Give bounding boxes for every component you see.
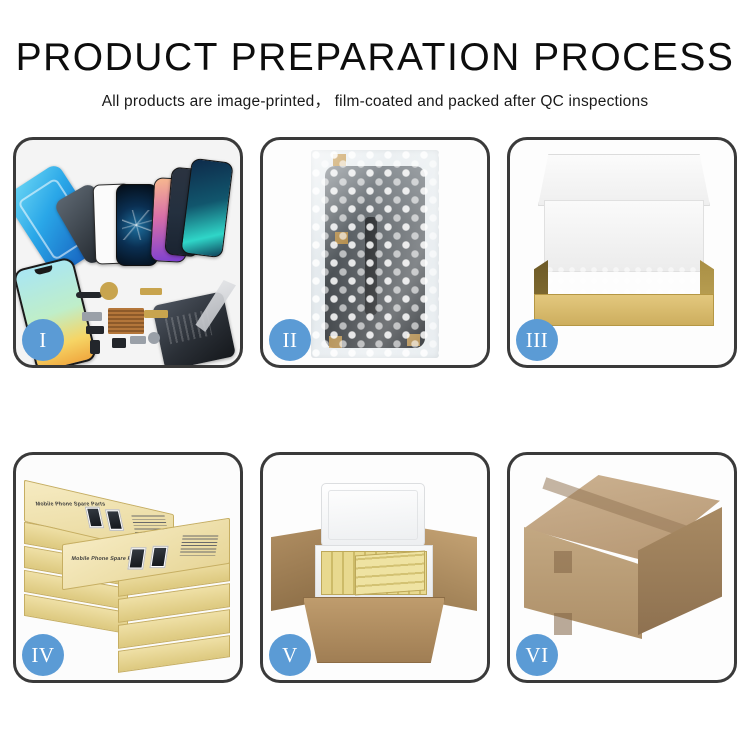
flex-cable-part-2: [144, 310, 168, 318]
box-label-phone-image: [149, 546, 168, 568]
flex-cable-part: [140, 288, 162, 295]
process-step-grid: I II: [13, 137, 737, 737]
foam-box-lid: [321, 483, 425, 547]
header: PRODUCT PREPARATION PROCESS All products…: [0, 0, 750, 111]
page-title: PRODUCT PREPARATION PROCESS: [0, 38, 750, 79]
box-lid-open: [538, 154, 710, 206]
process-step-4: Mobile Phone Spare Parts Mobile Phone Sp…: [13, 452, 243, 683]
step-badge-4: IV: [22, 634, 64, 676]
foam-sheet: [544, 200, 704, 272]
page-subtitle: All products are image-printed， film-coa…: [0, 89, 750, 111]
sim-tray-part: [90, 340, 100, 354]
step-badge-6: VI: [516, 634, 558, 676]
step-badge-3: III: [516, 319, 558, 361]
process-step-1: I: [13, 137, 243, 368]
bubble-wrap-bag: [311, 150, 439, 358]
screw-part: [130, 336, 146, 344]
box-label-spec-lines: [180, 535, 219, 555]
carton-front-panel: [303, 597, 445, 663]
process-step-6: VI: [507, 452, 737, 683]
box-stack: Mobile Phone Spare Parts Mobile Phone Sp…: [22, 473, 234, 663]
yellow-boxes-row-2: [355, 551, 425, 596]
camera-part: [86, 326, 104, 334]
product-preparation-infographic: PRODUCT PREPARATION PROCESS All products…: [0, 0, 750, 750]
carton-tape-upper: [554, 551, 572, 573]
box-front-panel: [534, 294, 714, 326]
carton-tape-lower: [554, 613, 572, 635]
logic-board-part: [108, 308, 144, 334]
box-label-phone-image: [127, 547, 146, 569]
step-badge-2: II: [269, 319, 311, 361]
vibrator-part: [148, 332, 160, 344]
plastic-sheen: [311, 150, 439, 358]
button-part: [112, 338, 126, 348]
bracket-part: [82, 312, 102, 321]
coin-part: [100, 282, 118, 300]
box-label-phone-image: [105, 509, 124, 531]
process-step-2: II: [260, 137, 490, 368]
step-badge-1: I: [22, 319, 64, 361]
step-badge-5: V: [269, 634, 311, 676]
speaker-part: [76, 292, 102, 298]
process-step-3: III: [507, 137, 737, 368]
box-label-phone-image: [85, 507, 104, 529]
process-step-5: V: [260, 452, 490, 683]
